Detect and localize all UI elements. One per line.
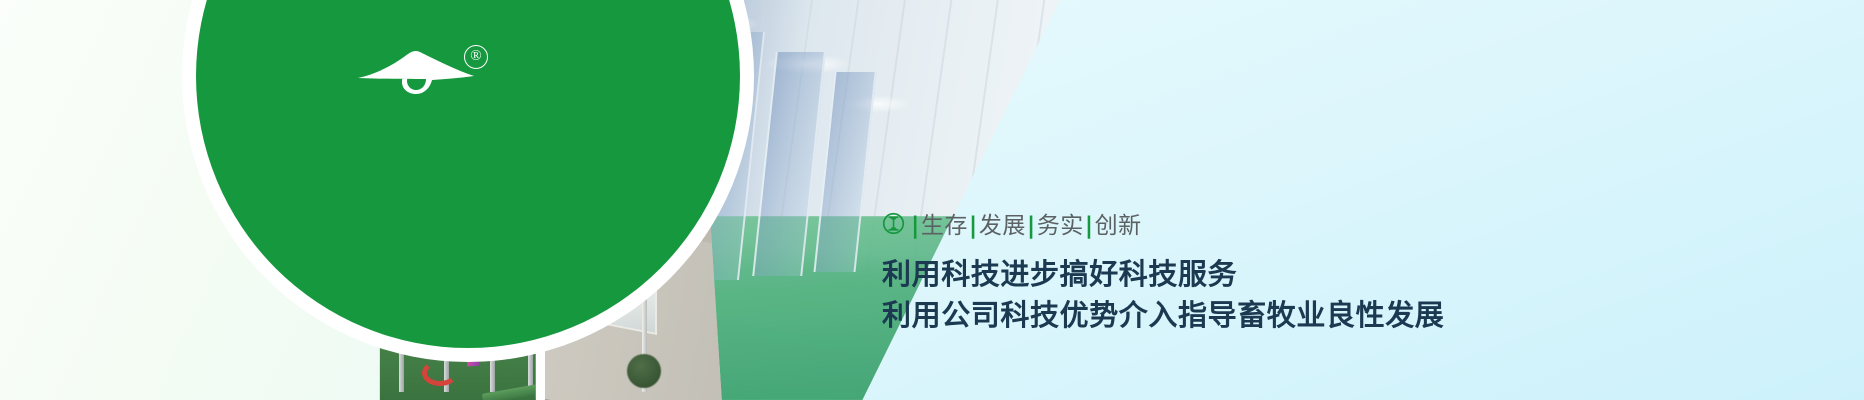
company-slogan: |生存|发展|务实|创新 bbox=[882, 208, 1444, 238]
shrub bbox=[627, 354, 661, 388]
headline-line-1: 利用科技进步搞好科技服务 bbox=[882, 254, 1444, 295]
company-hero-banner: ® |生存|发展|务实|创新 利用科技进步搞好科技服务 利用公司科技优势介入指导… bbox=[0, 0, 1864, 400]
registered-trademark-icon: ® bbox=[464, 45, 488, 69]
green-circle-figure-icon bbox=[882, 212, 905, 235]
headline-line-2: 利用公司科技优势介入指导畜牧业良性发展 bbox=[882, 295, 1444, 336]
hero-text-block: |生存|发展|务实|创新 利用科技进步搞好科技服务 利用公司科技优势介入指导畜牧… bbox=[882, 208, 1444, 337]
product-sachet bbox=[467, 360, 480, 367]
red-hose bbox=[422, 360, 458, 386]
slogan-text: |生存|发展|务实|创新 bbox=[910, 206, 1142, 240]
wave-bird-logo-icon bbox=[356, 44, 476, 100]
